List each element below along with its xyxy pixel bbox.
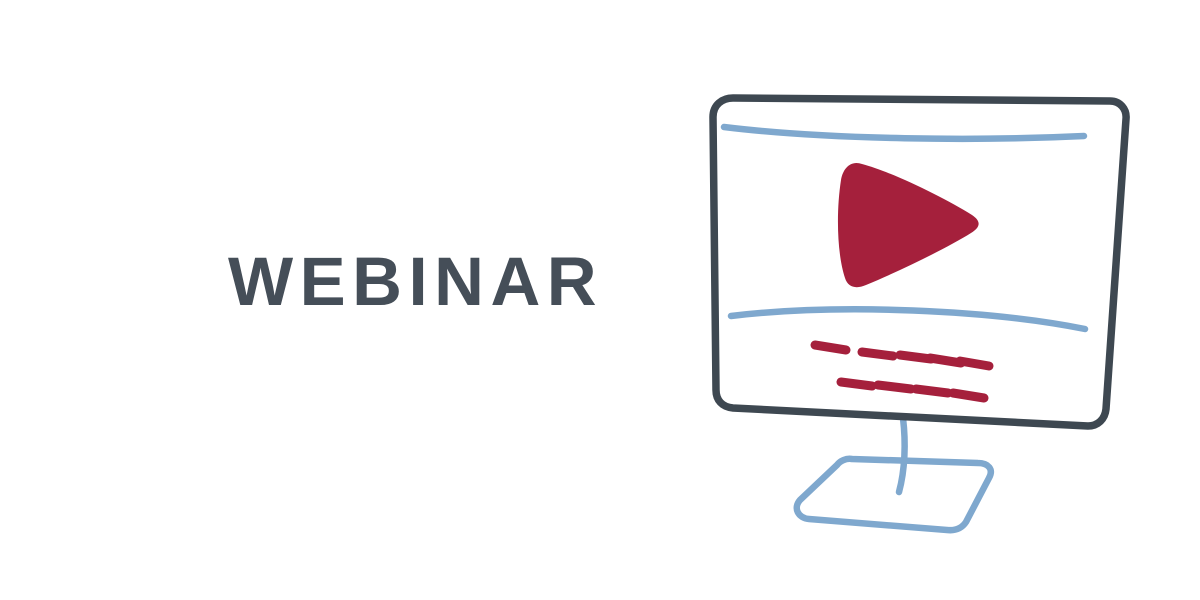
monitor-stand-neck: [899, 418, 905, 492]
caption-dash: [930, 358, 961, 363]
monitor-screen-fill: [713, 98, 1126, 426]
caption-dash: [960, 361, 989, 366]
page-title: WEBINAR: [228, 246, 603, 318]
caption-dash: [878, 385, 911, 389]
screen-text-line-top: [724, 127, 1084, 139]
caption-dash: [900, 355, 931, 359]
monitor-stand-base: [797, 459, 991, 530]
play-triangle-icon: [838, 163, 979, 287]
screen-text-line-bottom: [731, 309, 1085, 329]
caption-dash: [862, 352, 893, 356]
caption-dashes-row-2: [841, 382, 984, 398]
caption-dash: [953, 393, 984, 398]
monitor-screen-outline: [713, 98, 1126, 426]
caption-dash: [841, 382, 872, 386]
caption-dash: [815, 345, 846, 350]
caption-dash: [916, 389, 948, 393]
caption-dashes-row-1: [815, 345, 989, 366]
webinar-banner: WEBINAR: [0, 0, 1200, 600]
